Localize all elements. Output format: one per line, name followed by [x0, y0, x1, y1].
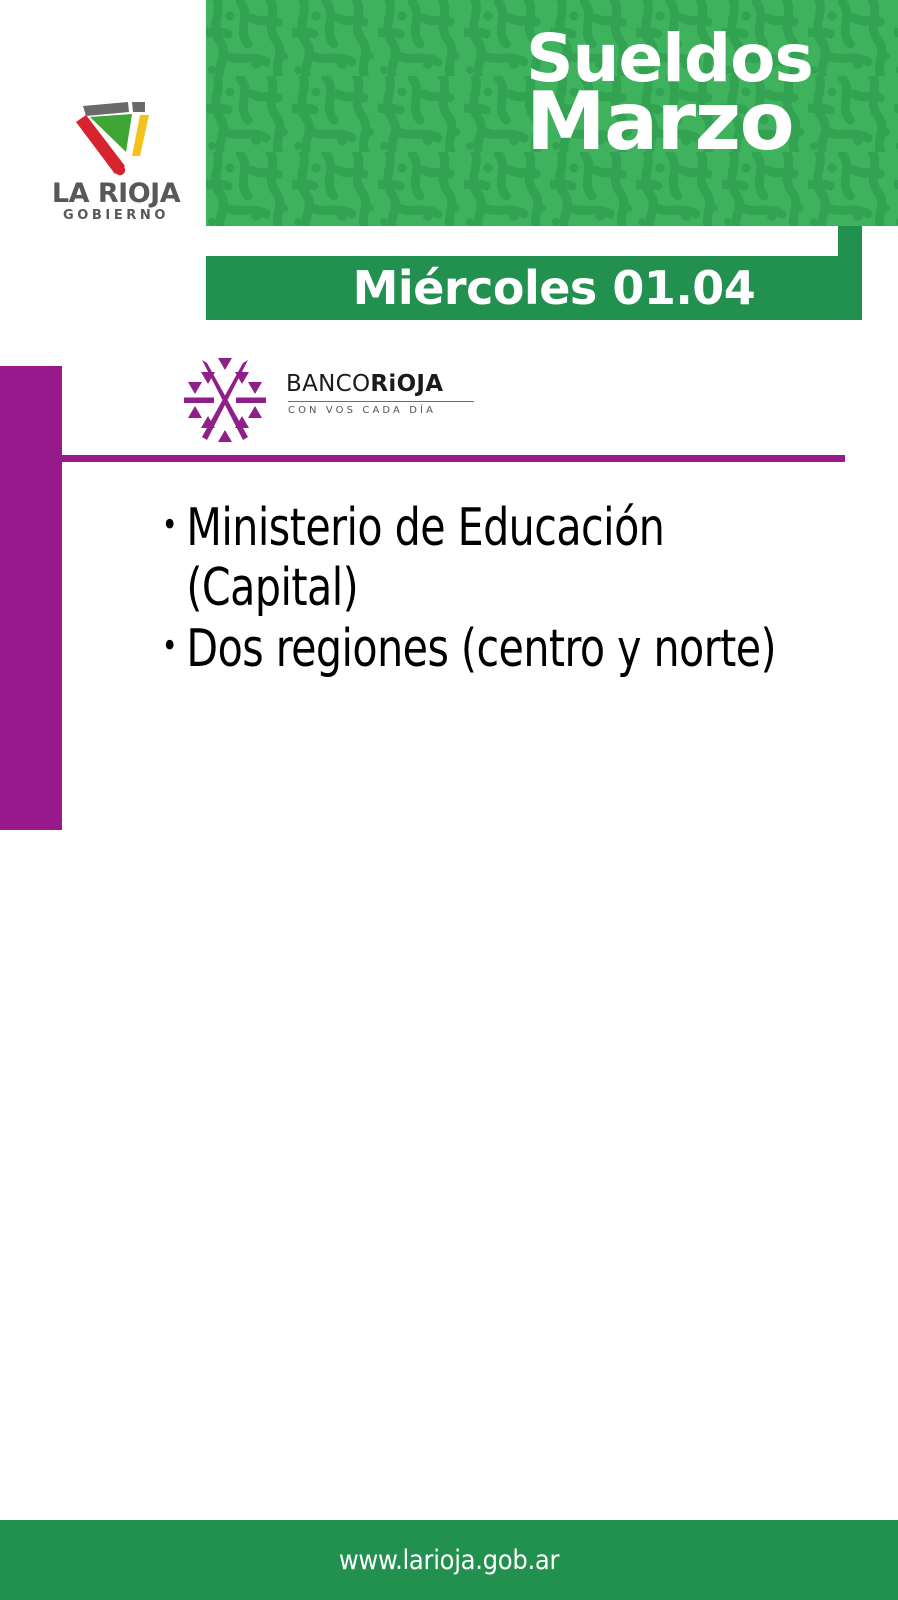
banco-rioja-logo: BANCORiOJA CON VOS CADA DÍA: [182, 358, 482, 442]
la-rioja-wordmark-sub: GOBIERNO: [36, 207, 196, 226]
la-rioja-wordmark: LA RIOJA GOBIERNO: [36, 180, 196, 226]
header-green-panel: Sueldos Marzo: [206, 0, 898, 226]
header-title: Sueldos Marzo: [526, 28, 898, 160]
list-item: Ministerio de Educación (Capital): [160, 498, 794, 619]
banco-rioja-name-bold: RiOJA: [370, 371, 443, 397]
date-band-riser: [838, 226, 862, 258]
list-item: Dos regiones (centro y norte): [160, 619, 794, 679]
footer-website-url[interactable]: www.larioja.gob.ar: [0, 1520, 898, 1600]
la-rioja-gobierno-logo: LA RIOJA GOBIERNO: [36, 100, 196, 222]
banco-rioja-name-light: BANCO: [286, 371, 370, 397]
sueldos-poster: Sueldos Marzo Miércoles 01.04 LA RIOJA G…: [0, 0, 898, 1600]
date-label: Miércoles 01.04: [206, 256, 862, 320]
banco-rioja-divider: [288, 401, 474, 402]
purple-accent-bar: [0, 366, 62, 830]
la-rioja-triangle-mark-icon: [66, 100, 162, 180]
banco-rioja-tagline: CON VOS CADA DÍA: [286, 405, 482, 417]
payment-group-list: Ministerio de Educación (Capital) Dos re…: [160, 498, 880, 679]
header-title-line2: Marzo: [526, 85, 898, 159]
footer-bar: www.larioja.gob.ar: [0, 1520, 898, 1600]
banco-rioja-name: BANCORiOJA: [286, 372, 482, 397]
banco-rioja-star-mark-icon: [182, 358, 268, 442]
la-rioja-wordmark-main: LA RIOJA: [36, 180, 196, 207]
date-band: Miércoles 01.04: [206, 256, 862, 320]
banco-rioja-wordmark: BANCORiOJA CON VOS CADA DÍA: [286, 372, 482, 417]
purple-divider-rule: [62, 455, 845, 462]
